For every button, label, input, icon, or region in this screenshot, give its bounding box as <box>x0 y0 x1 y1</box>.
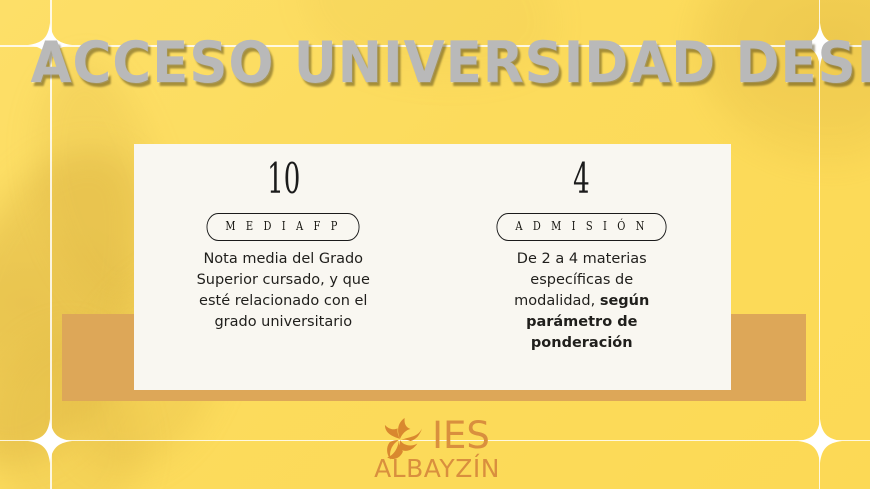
card-column-admision: 4 A D M I S I Ó N De 2 a 4 materias espe… <box>433 144 732 390</box>
badge-admision: A D M I S I Ó N <box>497 213 667 241</box>
institution-logo: IES ALBAYZÍN <box>0 409 870 481</box>
card-body-text: De 2 a 4 materias específicas de modalid… <box>493 249 671 354</box>
stat-number: 4 <box>573 156 590 202</box>
logo-line-albayzin: ALBAYZÍN <box>374 456 500 481</box>
logo-line-ies: IES <box>432 417 500 454</box>
card-column-media-fp: 10 M E D I A F P Nota media del Grado Su… <box>134 144 433 390</box>
slide-canvas: ACCESO UNIVERSIDAD DESDE FP 10 M E D I A… <box>0 0 870 489</box>
stat-number: 10 <box>267 156 300 202</box>
info-card: 10 M E D I A F P Nota media del Grado Su… <box>134 144 731 390</box>
badge-media-fp: M E D I A F P <box>207 213 360 241</box>
page-title: ACCESO UNIVERSIDAD DESDE FP <box>30 33 839 93</box>
card-body-text: Nota media del Grado Superior cursado, y… <box>194 249 372 333</box>
